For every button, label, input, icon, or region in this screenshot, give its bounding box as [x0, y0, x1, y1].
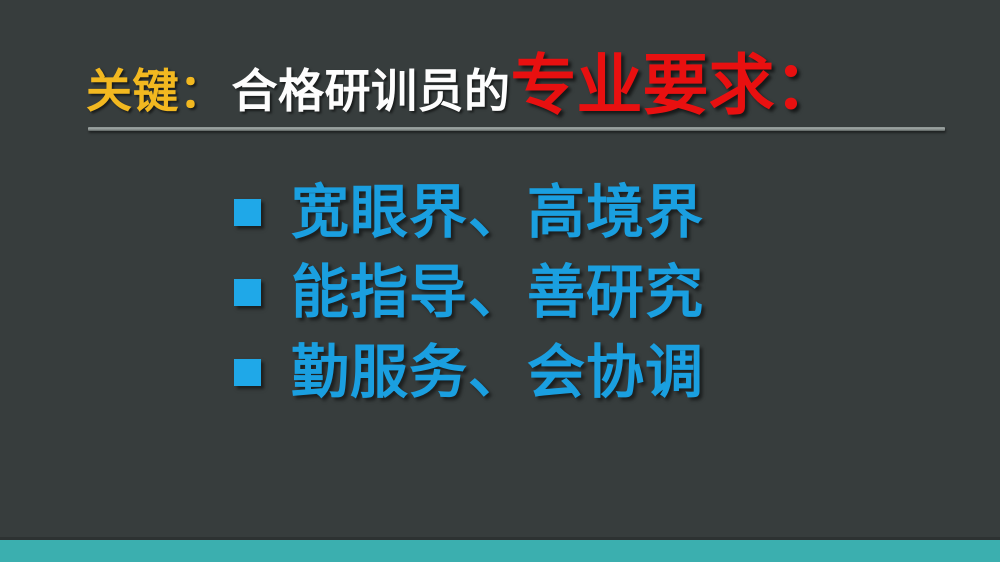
slide-title: 关键： 合格研训员的 专业要求：: [0, 34, 1000, 116]
square-bullet-icon: [234, 359, 261, 386]
list-item-label: 能指导、善研究: [291, 263, 704, 321]
title-divider-line: [88, 127, 945, 131]
title-segment-key: 关键：: [86, 68, 226, 114]
bottom-accent-bar: [0, 540, 1000, 562]
bullet-list: 宽眼界、高境界 能指导、善研究 勤服务、会协调: [234, 172, 954, 412]
title-segment-emphasis: 专业要求：: [511, 53, 841, 119]
list-item: 勤服务、会协调: [234, 332, 954, 412]
square-bullet-icon: [234, 279, 261, 306]
list-item: 能指导、善研究: [234, 252, 954, 332]
list-item: 宽眼界、高境界: [234, 172, 954, 252]
square-bullet-icon: [234, 199, 261, 226]
title-segment-subject: 合格研训员的: [226, 68, 511, 114]
list-item-label: 勤服务、会协调: [291, 343, 704, 401]
presentation-slide: 关键： 合格研训员的 专业要求： 宽眼界、高境界 能指导、善研究 勤服务、会协调: [0, 0, 1000, 562]
list-item-label: 宽眼界、高境界: [291, 183, 704, 241]
